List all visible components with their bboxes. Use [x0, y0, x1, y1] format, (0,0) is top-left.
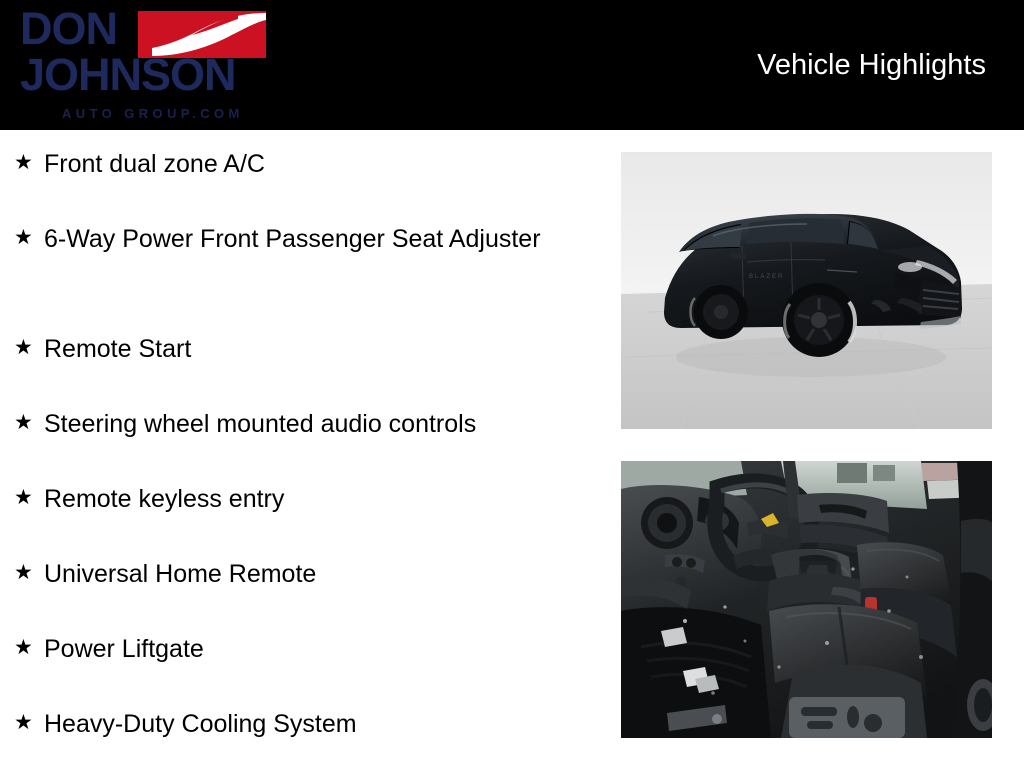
list-item-label: Heavy-Duty Cooling System	[44, 708, 564, 741]
list-item-label: 6-Way Power Front Passenger Seat Adjuste…	[44, 223, 564, 256]
star-icon: ★	[14, 333, 44, 363]
star-icon: ★	[14, 408, 44, 438]
list-item: ★ Steering wheel mounted audio controls	[0, 408, 600, 483]
star-icon: ★	[14, 633, 44, 663]
list-item-label: Remote Start	[44, 333, 564, 366]
exterior-photo-graphic: BLAZER	[621, 152, 992, 429]
star-icon: ★	[14, 223, 44, 253]
list-item: ★ Universal Home Remote	[0, 558, 600, 633]
list-item: ★ Remote keyless entry	[0, 483, 600, 558]
list-item-label: Steering wheel mounted audio controls	[44, 408, 564, 441]
logo-line-johnson: JOHNSON	[20, 52, 236, 97]
list-item-label: Universal Home Remote	[44, 558, 564, 591]
dealer-logo[interactable]: DON JOHNSON AUTO GROUP.COM	[20, 4, 260, 126]
svg-text:BLAZER: BLAZER	[749, 274, 784, 280]
vehicle-interior-photo[interactable]	[621, 461, 992, 738]
star-icon: ★	[14, 148, 44, 178]
list-item-label: Front dual zone A/C	[44, 148, 564, 181]
star-icon: ★	[14, 558, 44, 588]
header-bar: DON JOHNSON AUTO GROUP.COM Vehicle Highl…	[0, 0, 1024, 130]
list-item: ★ 6-Way Power Front Passenger Seat Adjus…	[0, 223, 600, 333]
star-icon: ★	[14, 483, 44, 513]
logo-tagline: AUTO GROUP.COM	[62, 107, 244, 120]
interior-photo-graphic	[621, 461, 992, 738]
list-item: ★ Heavy-Duty Cooling System	[0, 708, 600, 768]
vehicle-exterior-photo[interactable]: BLAZER	[621, 152, 992, 429]
vehicle-highlights-list: ★ Front dual zone A/C ★ 6-Way Power Fron…	[0, 130, 600, 768]
list-item: ★ Front dual zone A/C	[0, 148, 600, 223]
list-item-label: Power Liftgate	[44, 633, 564, 666]
logo-line-don: DON	[20, 6, 117, 51]
list-item: ★ Remote Start	[0, 333, 600, 408]
page-title: Vehicle Highlights	[757, 50, 986, 82]
list-item: ★ Power Liftgate	[0, 633, 600, 708]
star-icon: ★	[14, 708, 44, 738]
list-item-label: Remote keyless entry	[44, 483, 564, 516]
slide-root: DON JOHNSON AUTO GROUP.COM Vehicle Highl…	[0, 0, 1024, 768]
